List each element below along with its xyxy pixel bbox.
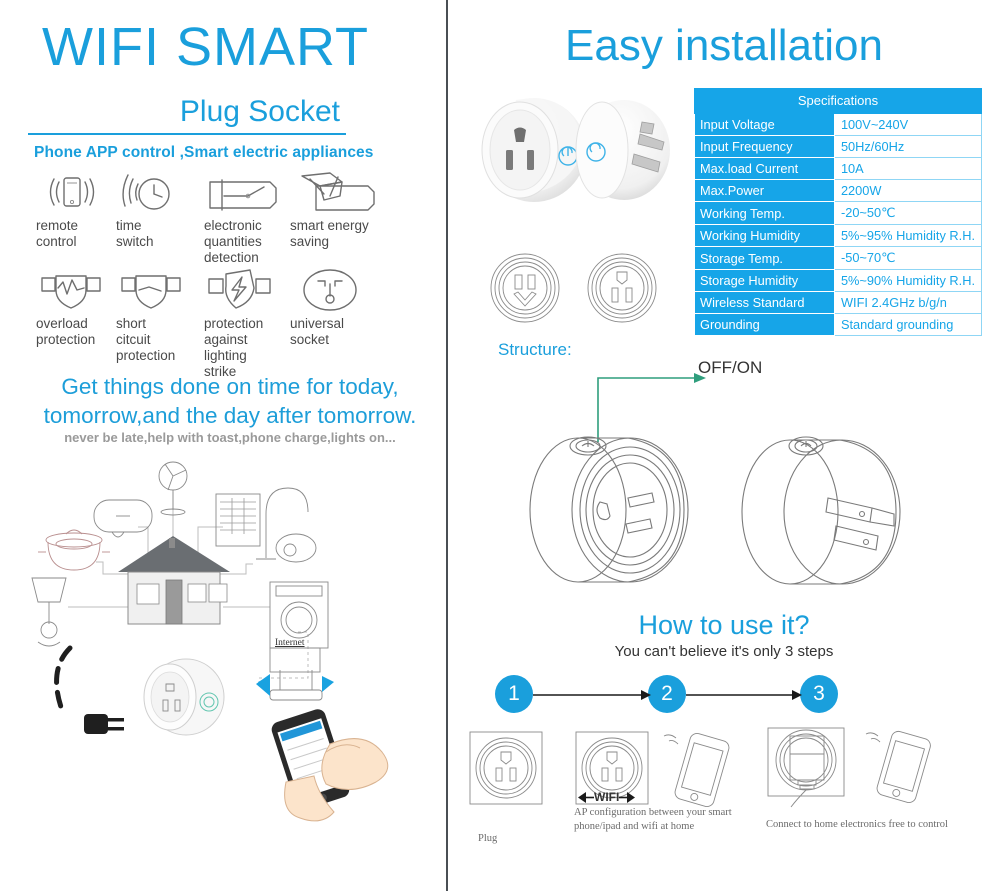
feature-label: remotecontrol bbox=[36, 218, 116, 250]
feature-electronic-detection: electronicquantitiesdetection bbox=[204, 170, 290, 266]
spec-key: Storage Temp. bbox=[695, 247, 835, 270]
structure-diagram bbox=[458, 350, 998, 615]
table-row: Grounding Standard grounding bbox=[695, 314, 982, 336]
lightning-shield-icon bbox=[204, 268, 290, 314]
universal-socket-face-icon bbox=[491, 254, 559, 322]
table-lamp-icon bbox=[32, 578, 66, 646]
right-panel: Easy installation bbox=[448, 0, 1000, 891]
headline-line-2: tomorrow,and the day after tomorrow. bbox=[44, 403, 417, 428]
smart-home-diagram: Internet bbox=[8, 452, 444, 872]
infographic-page: WIFI SMART Plug Socket Phone APP control… bbox=[0, 0, 1000, 891]
feature-lightning-protection: protectionagainstlightingstrike bbox=[204, 268, 290, 380]
step-arrow-1-to-2 bbox=[533, 690, 651, 700]
spec-key: Input Frequency bbox=[695, 136, 835, 158]
spec-key: Input Voltage bbox=[695, 114, 835, 136]
clock-timer-icon bbox=[116, 170, 196, 216]
title-divider-rule bbox=[28, 133, 346, 135]
power-plug-icon bbox=[57, 648, 124, 734]
spec-value: 5%~90% Humidity R.H. bbox=[834, 270, 981, 292]
smart-plug-icon bbox=[144, 659, 224, 735]
step-badge-1: 1 bbox=[495, 675, 533, 713]
feature-grid: remotecontrol timeswitch bbox=[18, 170, 438, 366]
fan-icon bbox=[159, 462, 187, 515]
spec-value: -20~50℃ bbox=[834, 202, 981, 225]
universal-socket-icon bbox=[290, 268, 390, 314]
product-photos bbox=[472, 80, 677, 240]
energy-saving-icon bbox=[290, 170, 390, 216]
rice-cooker-icon bbox=[38, 530, 110, 570]
feature-overload-protection: overloadprotection bbox=[36, 268, 116, 348]
water-heater-icon bbox=[94, 500, 152, 537]
table-row: Max.load Current 10A bbox=[695, 158, 982, 180]
structure-socket-view bbox=[530, 437, 688, 582]
spec-key: Max.Power bbox=[695, 180, 835, 202]
feature-label: electronicquantitiesdetection bbox=[204, 218, 290, 266]
socket-face-drawings bbox=[472, 248, 677, 328]
step-2-caption: AP configuration between your smart phon… bbox=[574, 806, 749, 833]
step-3-caption: Connect to home electronics free to cont… bbox=[766, 818, 956, 832]
spec-key: Wireless Standard bbox=[695, 292, 835, 314]
feature-label: smart energysaving bbox=[290, 218, 390, 250]
feature-row-1: remotecontrol timeswitch bbox=[18, 170, 438, 268]
table-row: Wireless Standard WIFI 2.4GHz b/g/n bbox=[695, 292, 982, 314]
step-arrow-2-to-3 bbox=[686, 690, 802, 700]
feature-time-switch: timeswitch bbox=[116, 170, 196, 250]
feature-label: timeswitch bbox=[116, 218, 196, 250]
feature-short-circuit-protection: shortcitcuitprotection bbox=[116, 268, 196, 364]
feature-row-2: overloadprotection shortcitcuitprotectio… bbox=[18, 268, 438, 366]
us-socket-face-icon bbox=[588, 254, 656, 322]
spec-key: Working Temp. bbox=[695, 202, 835, 225]
tagline: Phone APP control ,Smart electric applia… bbox=[34, 144, 434, 162]
wifi-badge-label: WIFI bbox=[594, 790, 619, 804]
callout-arrow-icon bbox=[598, 373, 706, 442]
table-row: Storage Temp. -50~70℃ bbox=[695, 247, 982, 270]
arrow-left-icon bbox=[578, 792, 594, 803]
feature-label: protectionagainstlightingstrike bbox=[204, 316, 290, 380]
feature-universal-socket: universalsocket bbox=[290, 268, 390, 348]
page-title: WIFI SMART bbox=[42, 18, 382, 76]
internet-label: Internet bbox=[275, 638, 305, 648]
product-photo-front bbox=[482, 98, 586, 202]
page-subtitle: Plug Socket bbox=[30, 95, 340, 129]
spec-value: WIFI 2.4GHz b/g/n bbox=[834, 292, 981, 314]
spec-value: 100V~240V bbox=[834, 114, 981, 136]
spec-value: 2200W bbox=[834, 180, 981, 202]
short-circuit-shield-icon bbox=[116, 268, 196, 314]
headline-subtext: never be late,help with toast,phone char… bbox=[20, 430, 440, 445]
structure-prong-view bbox=[742, 437, 900, 584]
feature-label: overloadprotection bbox=[36, 316, 116, 348]
feature-label: universalsocket bbox=[290, 316, 390, 348]
spec-key: Storage Humidity bbox=[695, 270, 835, 292]
phone-remote-icon bbox=[36, 170, 116, 216]
arrow-right-icon bbox=[619, 792, 635, 803]
feature-remote-control: remotecontrol bbox=[36, 170, 116, 250]
table-row: Storage Humidity 5%~90% Humidity R.H. bbox=[695, 270, 982, 292]
table-row: Working Humidity 5%~95% Humidity R.H. bbox=[695, 225, 982, 247]
spec-key: Working Humidity bbox=[695, 225, 835, 247]
table-row: Working Temp. -20~50℃ bbox=[695, 202, 982, 225]
wifi-badge: WIFI bbox=[578, 790, 635, 804]
table-row: Input Voltage 100V~240V bbox=[695, 114, 982, 136]
step-1-caption: Plug bbox=[478, 832, 568, 846]
specifications-table: Specifications Input Voltage 100V~240V I… bbox=[694, 88, 982, 336]
left-panel: WIFI SMART Plug Socket Phone APP control… bbox=[0, 0, 446, 891]
table-row: Input Frequency 50Hz/60Hz bbox=[695, 136, 982, 158]
electronic-meter-icon bbox=[204, 170, 290, 216]
air-conditioner-icon bbox=[216, 494, 260, 546]
spec-value: -50~70℃ bbox=[834, 247, 981, 270]
spec-header-row: Specifications bbox=[695, 89, 982, 114]
table-row: Max.Power 2200W bbox=[695, 180, 982, 202]
house-icon bbox=[118, 536, 230, 624]
spec-table-header: Specifications bbox=[695, 89, 982, 114]
feature-label: shortcitcuitprotection bbox=[116, 316, 196, 364]
product-photo-back bbox=[576, 100, 670, 200]
spec-value: Standard grounding bbox=[834, 314, 981, 336]
step-badge-3: 3 bbox=[800, 675, 838, 713]
step-3-illustration bbox=[764, 728, 964, 808]
spec-value: 50Hz/60Hz bbox=[834, 136, 981, 158]
how-to-use-title: How to use it? bbox=[448, 608, 1000, 642]
overload-shield-icon bbox=[36, 268, 116, 314]
headline: Get things done on time for today, tomor… bbox=[20, 372, 440, 430]
step-badge-2: 2 bbox=[648, 675, 686, 713]
easy-installation-title: Easy installation bbox=[448, 20, 1000, 72]
headline-line-1: Get things done on time for today, bbox=[61, 374, 398, 399]
spec-value: 10A bbox=[834, 158, 981, 180]
steps-indicator-row: 1 2 3 bbox=[448, 672, 1000, 724]
spec-key: Grounding bbox=[695, 314, 835, 336]
how-to-use-subtitle: You can't believe it's only 3 steps bbox=[448, 643, 1000, 660]
vacuum-cleaner-icon bbox=[256, 488, 316, 562]
feature-energy-saving: smart energysaving bbox=[290, 170, 390, 250]
spec-key: Max.load Current bbox=[695, 158, 835, 180]
spec-value: 5%~95% Humidity R.H. bbox=[834, 225, 981, 247]
step-1-illustration bbox=[462, 728, 552, 808]
